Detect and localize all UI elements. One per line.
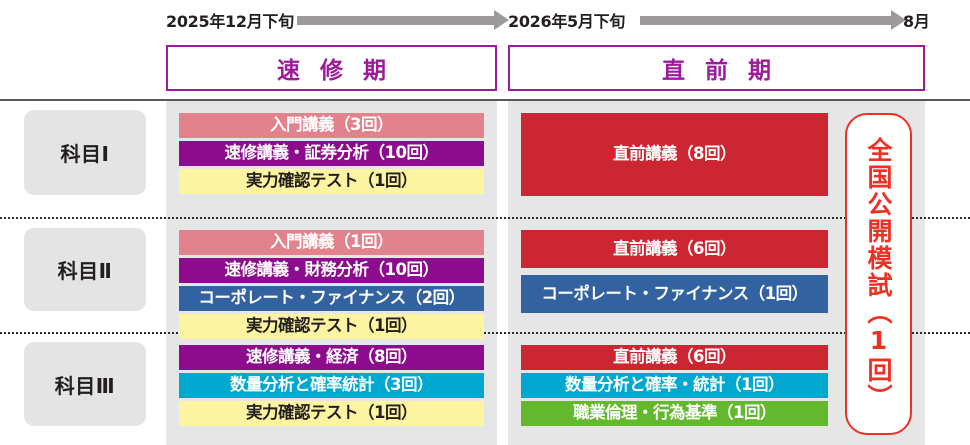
mock-exam-box[interactable]: 全国公開模試（1回） xyxy=(845,113,912,435)
subject-label-1-text: 科目Ⅰ xyxy=(61,138,110,167)
phase-header-sokushu-label: 速 修 期 xyxy=(271,51,392,85)
subject-label-2: 科目Ⅱ xyxy=(24,228,146,311)
phase-header-chokuzen-label: 直 前 期 xyxy=(656,51,777,85)
schedule-row-subject-1: 科目Ⅰ 入門講義（3回） 速修講義・証券分析（10回） 実力確認テスト（1回） … xyxy=(0,100,970,217)
timeline-arrow-2 xyxy=(640,16,892,25)
subject-label-2-text: 科目Ⅱ xyxy=(58,255,113,284)
course-bar[interactable]: 直前講義（8回） xyxy=(521,113,828,196)
timeline-start-label: 2025年12月下旬 xyxy=(166,8,294,32)
course-bar[interactable]: 数量分析と確率・統計（1回） xyxy=(521,373,828,398)
timeline-arrow-1 xyxy=(297,16,495,25)
course-stack-chokuzen-2: 直前講義（6回） コーポレート・ファイナンス（1回） xyxy=(521,230,828,313)
course-stack-sokushu-1: 入門講義（3回） 速修講義・証券分析（10回） 実力確認テスト（1回） xyxy=(179,113,484,194)
course-bar[interactable]: 職業倫理・行為基準（1回） xyxy=(521,401,828,426)
course-bar[interactable]: 実力確認テスト（1回） xyxy=(179,401,484,426)
subject-label-3-text: 科目Ⅲ xyxy=(55,370,115,399)
timeline-header: 2025年12月下旬 2026年5月下旬 8月 xyxy=(0,0,970,40)
course-bar[interactable]: 速修講義・経済（8回） xyxy=(179,345,484,370)
course-stack-chokuzen-3: 直前講義（6回） 数量分析と確率・統計（1回） 職業倫理・行為基準（1回） xyxy=(521,345,828,426)
subject-label-1: 科目Ⅰ xyxy=(24,110,146,195)
phase-header-sokushu: 速 修 期 xyxy=(166,45,497,91)
schedule-row-subject-2: 科目Ⅱ 入門講義（1回） 速修講義・財務分析（10回） コーポレート・ファイナン… xyxy=(0,219,970,332)
course-bar[interactable]: 入門講義（1回） xyxy=(179,230,484,255)
subject-label-3: 科目Ⅲ xyxy=(24,342,146,426)
course-bar[interactable]: 実力確認テスト（1回） xyxy=(179,169,484,194)
timeline-mid-label: 2026年5月下旬 xyxy=(508,8,625,32)
course-stack-sokushu-3: 速修講義・経済（8回） 数量分析と確率統計（3回） 実力確認テスト（1回） xyxy=(179,345,484,426)
course-bar[interactable]: 直前講義（6回） xyxy=(521,345,828,370)
course-stack-chokuzen-1: 直前講義（8回） xyxy=(521,113,828,196)
course-bar[interactable]: 速修講義・証券分析（10回） xyxy=(179,141,484,166)
course-bar[interactable]: 数量分析と確率統計（3回） xyxy=(179,373,484,398)
course-bar[interactable]: 直前講義（6回） xyxy=(521,230,828,268)
mock-exam-label: 全国公開模試（1回） xyxy=(866,137,891,411)
course-stack-sokushu-2: 入門講義（1回） 速修講義・財務分析（10回） コーポレート・ファイナンス（2回… xyxy=(179,230,484,339)
timeline-end-label: 8月 xyxy=(903,8,930,32)
schedule-row-subject-3: 科目Ⅲ 速修講義・経済（8回） 数量分析と確率統計（3回） 実力確認テスト（1回… xyxy=(0,334,970,445)
phase-header-chokuzen: 直 前 期 xyxy=(508,45,925,91)
course-bar[interactable]: コーポレート・ファイナンス（1回） xyxy=(521,275,828,313)
course-bar[interactable]: コーポレート・ファイナンス（2回） xyxy=(179,286,484,311)
course-bar[interactable]: 速修講義・財務分析（10回） xyxy=(179,258,484,283)
course-bar[interactable]: 入門講義（3回） xyxy=(179,113,484,138)
